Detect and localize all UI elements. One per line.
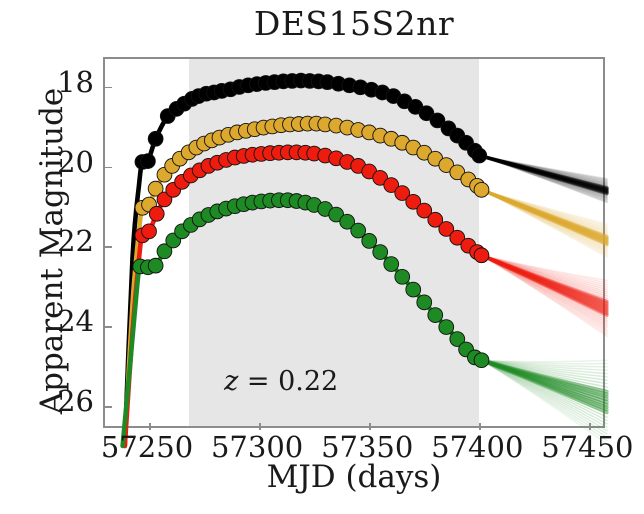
page-title: DES15S2nr — [103, 4, 605, 44]
data-point — [148, 258, 163, 273]
x-tick — [149, 423, 151, 430]
series-band-i — [125, 145, 607, 446]
y-tick-label: 24 — [24, 304, 94, 338]
light-curve-figure: DES15S2nr Apparent Magnitude MJD (days) … — [0, 0, 644, 514]
x-tick — [589, 423, 591, 430]
redshift-annotation: z = 0.22 — [224, 366, 338, 397]
x-tick — [259, 423, 261, 430]
data-point — [406, 282, 421, 297]
x-tick — [369, 423, 371, 430]
data-point — [148, 131, 163, 146]
redshift-symbol: z — [224, 366, 238, 397]
data-point — [474, 353, 489, 368]
data-point — [362, 234, 377, 249]
data-point — [474, 182, 489, 197]
data-point — [149, 206, 164, 221]
data-point — [428, 308, 443, 323]
data-point — [373, 245, 388, 260]
data-point — [384, 257, 399, 272]
light-curve-canvas — [105, 59, 603, 426]
data-point — [472, 148, 487, 163]
data-point — [395, 269, 410, 284]
plot-area — [103, 57, 605, 428]
data-point — [141, 154, 156, 169]
x-tick — [479, 423, 481, 430]
y-tick-label: 26 — [24, 384, 94, 418]
data-point — [142, 224, 157, 239]
data-point — [474, 248, 489, 263]
x-axis-label: MJD (days) — [103, 459, 605, 495]
y-tick-label: 20 — [24, 145, 94, 179]
x-tick-label: 57450 — [507, 430, 644, 464]
y-tick — [105, 246, 112, 248]
y-tick-label: 22 — [24, 224, 94, 258]
y-tick — [105, 87, 112, 89]
redshift-value: = 0.22 — [238, 366, 338, 397]
series-band-z — [123, 193, 607, 446]
y-tick — [105, 326, 112, 328]
y-tick-label: 18 — [24, 65, 94, 99]
y-tick — [105, 406, 112, 408]
data-point — [439, 320, 454, 335]
data-point — [417, 295, 432, 310]
y-tick — [105, 167, 112, 169]
